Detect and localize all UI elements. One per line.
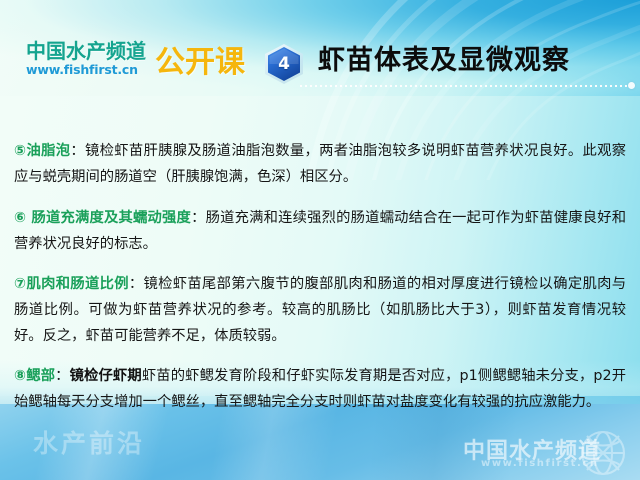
brand-name-cn: 中国水产频道 bbox=[26, 41, 146, 61]
brand-logo[interactable]: 中国水产频道 www.fishfirst.cn 公开课 bbox=[26, 41, 245, 77]
item-lead: 鳃部 bbox=[26, 368, 55, 384]
item-colon: ： bbox=[55, 368, 69, 384]
item-lead: 肌肉和肠道比例 bbox=[26, 276, 128, 292]
item-colon: ： bbox=[70, 143, 85, 159]
list-item: ⑧鳃部：镜检仔虾期虾苗的虾鳃发育阶段和仔虾实际发育期是否对应，p1侧鳃鳃轴未分支… bbox=[0, 363, 640, 415]
brand-url: www.fishfirst.cn bbox=[26, 64, 146, 77]
title-dotted-rule-end-dot bbox=[628, 82, 635, 89]
item-marker: ⑦ bbox=[14, 276, 26, 292]
page-title: 虾苗体表及显微观察 bbox=[318, 45, 570, 77]
item-lead: 油脂泡 bbox=[26, 143, 70, 159]
item-marker: ⑧ bbox=[14, 368, 26, 384]
slide-root: 中国水产频道 www.fishfirst.cn 公开课 bbox=[0, 0, 640, 480]
title-dotted-rule bbox=[300, 85, 628, 87]
list-item: ⑤油脂泡：镜检虾苗肝胰腺及肠道油脂泡数量，两者油脂泡较多说明虾苗营养状况良好。此… bbox=[0, 138, 640, 190]
list-item: ⑥ 肠道充满度及其蠕动强度：肠道充满和连续强烈的肠道蠕动结合在一起可作为虾苗健康… bbox=[0, 205, 640, 257]
item-marker: ⑥ bbox=[14, 210, 26, 226]
item-marker: ⑤ bbox=[14, 143, 26, 159]
series-label: 公开课 bbox=[155, 48, 245, 78]
content-body: ⑤油脂泡：镜检虾苗肝胰腺及肠道油脂泡数量，两者油脂泡较多说明虾苗营养状况良好。此… bbox=[0, 124, 640, 429]
brand-logo-text: 中国水产频道 www.fishfirst.cn bbox=[26, 41, 146, 77]
item-colon: ： bbox=[129, 276, 144, 292]
item-colon: ： bbox=[191, 210, 206, 226]
hexagon-badge-number: 4 bbox=[263, 43, 305, 85]
item-lead: 肠道充满度及其蠕动强度 bbox=[26, 210, 191, 226]
item-text: 镜检虾苗肝胰腺及肠道油脂泡数量，两者油脂泡较多说明虾苗营养状况良好。此观察应与蜕… bbox=[14, 143, 626, 185]
item-emphasis: 镜检仔虾期 bbox=[70, 368, 142, 384]
header-bar: 中国水产频道 www.fishfirst.cn 公开课 bbox=[0, 0, 640, 112]
list-item: ⑦肌肉和肠道比例：镜检虾苗尾部第六腹节的腹部肌肉和肠道的相对厚度进行镜检以确定肌… bbox=[0, 271, 640, 349]
